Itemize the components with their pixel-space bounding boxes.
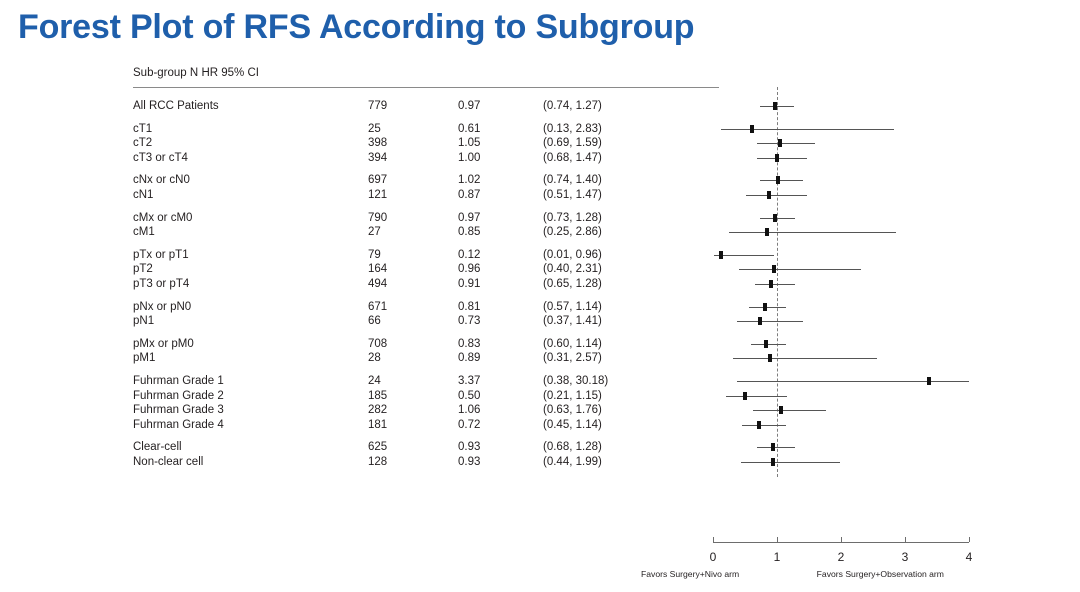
cell-subgroup: cT3 or cT4 [133,151,188,166]
cell-n: 181 [368,418,402,433]
ci-whisker [749,307,785,308]
point-estimate-marker [779,406,783,414]
point-estimate-marker [773,214,777,222]
page-title: Forest Plot of RFS According to Subgroup [18,8,694,47]
axis-caption-left: Favors Surgery+Nivo arm [641,569,739,579]
cell-subgroup: pTx or pT1 [133,248,189,263]
ci-whisker [739,269,861,270]
point-estimate-marker [778,139,782,147]
cell-hr: 1.00 [458,151,494,166]
axis-tick [777,537,778,542]
cell-subgroup: cT1 [133,122,152,137]
cell-ci: (0.44, 1.99) [543,455,602,470]
cell-n: 625 [368,440,402,455]
point-estimate-marker [771,458,775,466]
cell-hr: 1.02 [458,173,494,188]
ci-whisker [755,284,795,285]
column-header-hr: HR [201,67,218,79]
ci-whisker [737,381,969,382]
axis-tick [841,537,842,542]
cell-hr: 1.06 [458,403,494,418]
cell-ci: (0.60, 1.14) [543,337,602,352]
point-estimate-marker [776,176,780,184]
cell-n: 128 [368,455,402,470]
cell-subgroup: Fuhrman Grade 1 [133,374,224,389]
cell-n: 394 [368,151,402,166]
cell-n: 79 [368,248,402,263]
cell-n: 28 [368,351,402,366]
cell-n: 25 [368,122,402,137]
cell-n: 24 [368,374,402,389]
cell-hr: 0.12 [458,248,494,263]
axis-tick-label: 0 [703,551,723,563]
cell-n: 282 [368,403,402,418]
cell-hr: 0.97 [458,211,494,226]
column-header-ci: 95% CI [221,67,259,79]
cell-subgroup: pT3 or pT4 [133,277,189,292]
cell-subgroup: cM1 [133,225,155,240]
cell-hr: 0.81 [458,300,494,315]
cell-ci: (0.38, 30.18) [543,374,608,389]
point-estimate-marker [750,125,754,133]
cell-hr: 1.05 [458,136,494,151]
point-estimate-marker [775,154,779,162]
cell-subgroup: pMx or pM0 [133,337,194,352]
ci-whisker [760,218,795,219]
cell-subgroup: cNx or cN0 [133,173,190,188]
cell-n: 121 [368,188,402,203]
ci-whisker [757,158,808,159]
cell-hr: 0.93 [458,440,494,455]
cell-n: 779 [368,99,402,114]
cell-ci: (0.45, 1.14) [543,418,602,433]
cell-ci: (0.63, 1.76) [543,403,602,418]
axis-tick [713,537,714,542]
ci-whisker [751,344,786,345]
cell-n: 398 [368,136,402,151]
column-header-subgroup: Sub-group [133,67,187,79]
point-estimate-marker [772,265,776,273]
cell-ci: (0.65, 1.28) [543,277,602,292]
cell-ci: (0.01, 0.96) [543,248,602,263]
point-estimate-marker [769,280,773,288]
point-estimate-marker [771,443,775,451]
ci-whisker [714,255,775,256]
ci-whisker [741,462,840,463]
point-estimate-marker [764,340,768,348]
cell-n: 66 [368,314,402,329]
cell-hr: 0.87 [458,188,494,203]
point-estimate-marker [768,354,772,362]
cell-hr: 3.37 [458,374,494,389]
cell-ci: (0.37, 1.41) [543,314,602,329]
cell-subgroup: Clear-cell [133,440,182,455]
cell-ci: (0.68, 1.47) [543,151,602,166]
axis-tick-label: 1 [767,551,787,563]
cell-hr: 0.72 [458,418,494,433]
ci-whisker [753,410,825,411]
point-estimate-marker [757,421,761,429]
ci-whisker [729,232,896,233]
cell-subgroup: pT2 [133,262,153,277]
cell-n: 671 [368,300,402,315]
point-estimate-marker [927,377,931,385]
cell-ci: (0.13, 2.83) [543,122,602,137]
point-estimate-marker [773,102,777,110]
ci-whisker [757,447,795,448]
axis-tick-label: 4 [959,551,979,563]
cell-ci: (0.40, 2.31) [543,262,602,277]
axis-tick [969,537,970,542]
forest-plot-canvas: 01234 Favors Surgery+Nivo arm Favors Sur… [600,60,1020,592]
ci-whisker [757,143,815,144]
point-estimate-marker [765,228,769,236]
cell-subgroup: Fuhrman Grade 4 [133,418,224,433]
point-estimate-marker [719,251,723,259]
cell-n: 185 [368,389,402,404]
cell-subgroup: cMx or cM0 [133,211,192,226]
x-axis-line [713,542,969,543]
point-estimate-marker [763,303,767,311]
ci-whisker [760,180,802,181]
cell-subgroup: cT2 [133,136,152,151]
cell-subgroup: pNx or pN0 [133,300,191,315]
cell-hr: 0.96 [458,262,494,277]
point-estimate-marker [758,317,762,325]
cell-ci: (0.74, 1.40) [543,173,602,188]
cell-subgroup: pM1 [133,351,155,366]
cell-n: 697 [368,173,402,188]
cell-n: 790 [368,211,402,226]
cell-hr: 0.97 [458,99,494,114]
cell-ci: (0.69, 1.59) [543,136,602,151]
cell-subgroup: All RCC Patients [133,99,219,114]
cell-n: 27 [368,225,402,240]
ci-whisker [746,195,807,196]
cell-n: 494 [368,277,402,292]
ci-whisker [733,358,878,359]
cell-ci: (0.57, 1.14) [543,300,602,315]
axis-tick [905,537,906,542]
cell-hr: 0.50 [458,389,494,404]
cell-ci: (0.68, 1.28) [543,440,602,455]
cell-hr: 0.83 [458,337,494,352]
cell-hr: 0.61 [458,122,494,137]
ci-whisker [726,396,786,397]
ci-whisker [737,321,804,322]
cell-n: 708 [368,337,402,352]
ci-whisker [760,106,794,107]
cell-hr: 0.93 [458,455,494,470]
ci-whisker [742,425,786,426]
ci-whisker [721,129,894,130]
cell-subgroup: Non-clear cell [133,455,203,470]
axis-caption-right: Favors Surgery+Observation arm [817,569,944,579]
cell-ci: (0.74, 1.27) [543,99,602,114]
axis-tick-label: 2 [831,551,851,563]
cell-subgroup: Fuhrman Grade 3 [133,403,224,418]
cell-subgroup: pN1 [133,314,154,329]
cell-hr: 0.85 [458,225,494,240]
forest-plot-figure: Sub-group N HR 95% CI All RCC Patients77… [0,60,1080,592]
cell-hr: 0.89 [458,351,494,366]
cell-hr: 0.73 [458,314,494,329]
cell-ci: (0.21, 1.15) [543,389,602,404]
point-estimate-marker [743,392,747,400]
cell-ci: (0.25, 2.86) [543,225,602,240]
cell-n: 164 [368,262,402,277]
point-estimate-marker [767,191,771,199]
cell-subgroup: Fuhrman Grade 2 [133,389,224,404]
cell-ci: (0.31, 2.57) [543,351,602,366]
cell-subgroup: cN1 [133,188,153,203]
cell-ci: (0.51, 1.47) [543,188,602,203]
cell-hr: 0.91 [458,277,494,292]
column-header-n: N [190,67,198,79]
axis-tick-label: 3 [895,551,915,563]
cell-ci: (0.73, 1.28) [543,211,602,226]
